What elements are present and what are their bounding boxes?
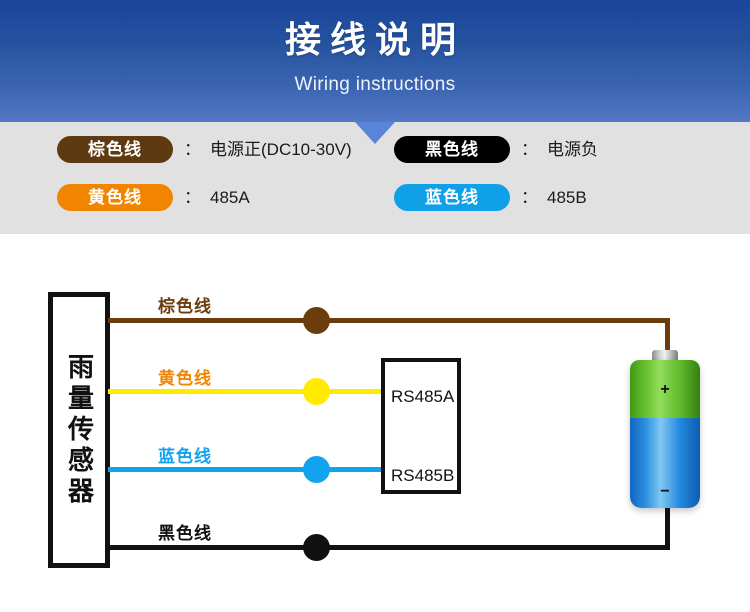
wire-brown-horizontal — [108, 318, 670, 323]
banner-pointer-triangle-icon — [355, 122, 395, 144]
wire-label-yellow: 黄色线 — [158, 364, 212, 389]
wire-label-black: 黑色线 — [158, 519, 212, 544]
rain-sensor-label: 雨量传感器 — [65, 353, 92, 508]
legend-item-blue: 蓝色线 ： 485B — [394, 184, 587, 211]
legend-colon-brown: ： — [173, 136, 210, 163]
junction-dot-blue — [303, 456, 330, 483]
legend-desc-black: 电源负 — [547, 136, 598, 163]
rain-sensor-box: 雨量传感器 — [48, 292, 110, 568]
junction-dot-yellow — [303, 378, 330, 405]
wire-brown-vertical-to-battery — [665, 318, 670, 354]
banner-title: 接线说明 — [0, 0, 750, 63]
battery-body: + − — [630, 360, 700, 508]
wire-blue-horizontal — [108, 467, 385, 472]
legend-pill-blue: 蓝色线 — [394, 184, 510, 211]
legend-item-brown: 棕色线 ： 电源正(DC10-30V) — [57, 136, 352, 163]
legend-item-black: 黑色线 ： 电源负 — [394, 136, 598, 163]
junction-dot-brown — [303, 307, 330, 334]
wire-yellow-horizontal — [108, 389, 385, 394]
battery-minus-sign: − — [630, 484, 700, 500]
legend-pill-brown: 棕色线 — [57, 136, 173, 163]
legend-pill-yellow: 黄色线 — [57, 184, 173, 211]
legend-item-yellow: 黄色线 ： 485A — [57, 184, 250, 211]
legend-colon-black: ： — [510, 136, 547, 163]
rs485-port-a-label: RS485A — [391, 387, 454, 407]
wire-label-brown: 棕色线 — [158, 292, 212, 317]
page-banner: 接线说明 Wiring instructions — [0, 0, 750, 122]
legend-colon-blue: ： — [510, 184, 547, 211]
rs485-port-b-label: RS485B — [391, 466, 454, 486]
battery-graphic: + − — [630, 350, 700, 508]
wire-black-horizontal — [108, 545, 670, 550]
legend-desc-yellow: 485A — [210, 184, 250, 211]
wire-label-blue: 蓝色线 — [158, 442, 212, 467]
junction-dot-black — [303, 534, 330, 561]
wiring-diagram: 雨量传感器 黑色线 棕色线 黄色线 蓝色线 RS485A RS485B + − — [0, 234, 750, 612]
banner-subtitle: Wiring instructions — [0, 63, 750, 98]
battery-plus-sign: + — [630, 382, 700, 398]
rs485-terminal-box: RS485A RS485B — [381, 358, 461, 494]
legend-colon-yellow: ： — [173, 184, 210, 211]
legend-pill-black: 黑色线 — [394, 136, 510, 163]
legend-desc-brown: 电源正(DC10-30V) — [210, 136, 352, 163]
legend-desc-blue: 485B — [547, 184, 587, 211]
